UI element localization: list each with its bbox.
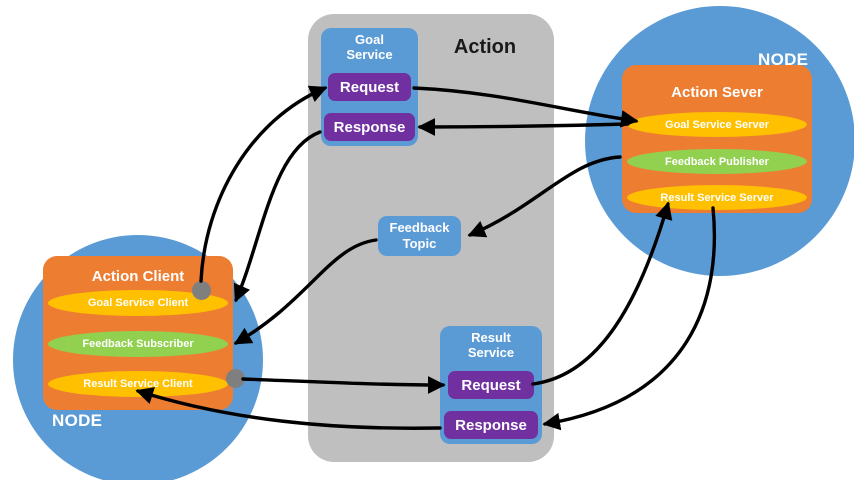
server-node-label: NODE [758, 50, 808, 70]
client-goal-connector-dot [192, 281, 211, 300]
goal-service-request-label: Request [340, 79, 399, 96]
pill-result-service-client-label: Result Service Client [83, 378, 192, 390]
result-service-response-label: Response [455, 417, 527, 434]
pill-result-service-client[interactable]: Result Service Client [48, 371, 228, 397]
goal-service-title-line2: Service [321, 48, 418, 63]
pill-feedback-publisher[interactable]: Feedback Publisher [627, 149, 807, 174]
pill-goal-service-client-label: Goal Service Client [88, 297, 188, 309]
feedback-topic-box[interactable]: Feedback Topic [378, 216, 461, 256]
diagram-canvas: Action Client Goal Service Client Feedba… [0, 0, 854, 480]
goal-service-title-line1: Goal [321, 33, 418, 48]
pill-feedback-subscriber[interactable]: Feedback Subscriber [48, 331, 228, 357]
pill-feedback-publisher-label: Feedback Publisher [665, 156, 769, 168]
result-service-request-chip[interactable]: Request [448, 371, 534, 399]
feedback-topic-label: Feedback Topic [390, 220, 450, 251]
goal-service-title: Goal Service [321, 33, 418, 63]
feedback-topic-line1: Feedback [390, 220, 450, 235]
result-service-title-line1: Result [440, 331, 542, 346]
client-node-label: NODE [52, 411, 102, 431]
client-result-connector-dot [226, 369, 245, 388]
pill-feedback-subscriber-label: Feedback Subscriber [82, 338, 193, 350]
goal-service-response-label: Response [334, 119, 406, 136]
result-service-title-line2: Service [440, 346, 542, 361]
action-panel-title: Action [430, 36, 540, 59]
arrow-goal-client-to-request [201, 88, 325, 281]
pill-goal-service-server-label: Goal Service Server [665, 119, 769, 131]
pill-goal-service-server[interactable]: Goal Service Server [627, 112, 807, 137]
action-server-title: Action Sever [622, 84, 812, 101]
result-service-title: Result Service [440, 331, 542, 361]
goal-service-response-chip[interactable]: Response [324, 113, 415, 141]
result-service-request-label: Request [461, 377, 520, 394]
goal-service-request-chip[interactable]: Request [328, 73, 411, 101]
result-service-response-chip[interactable]: Response [444, 411, 538, 439]
pill-result-service-server-label: Result Service Server [660, 192, 773, 204]
pill-result-service-server[interactable]: Result Service Server [627, 185, 807, 210]
feedback-topic-line2: Topic [403, 236, 437, 251]
